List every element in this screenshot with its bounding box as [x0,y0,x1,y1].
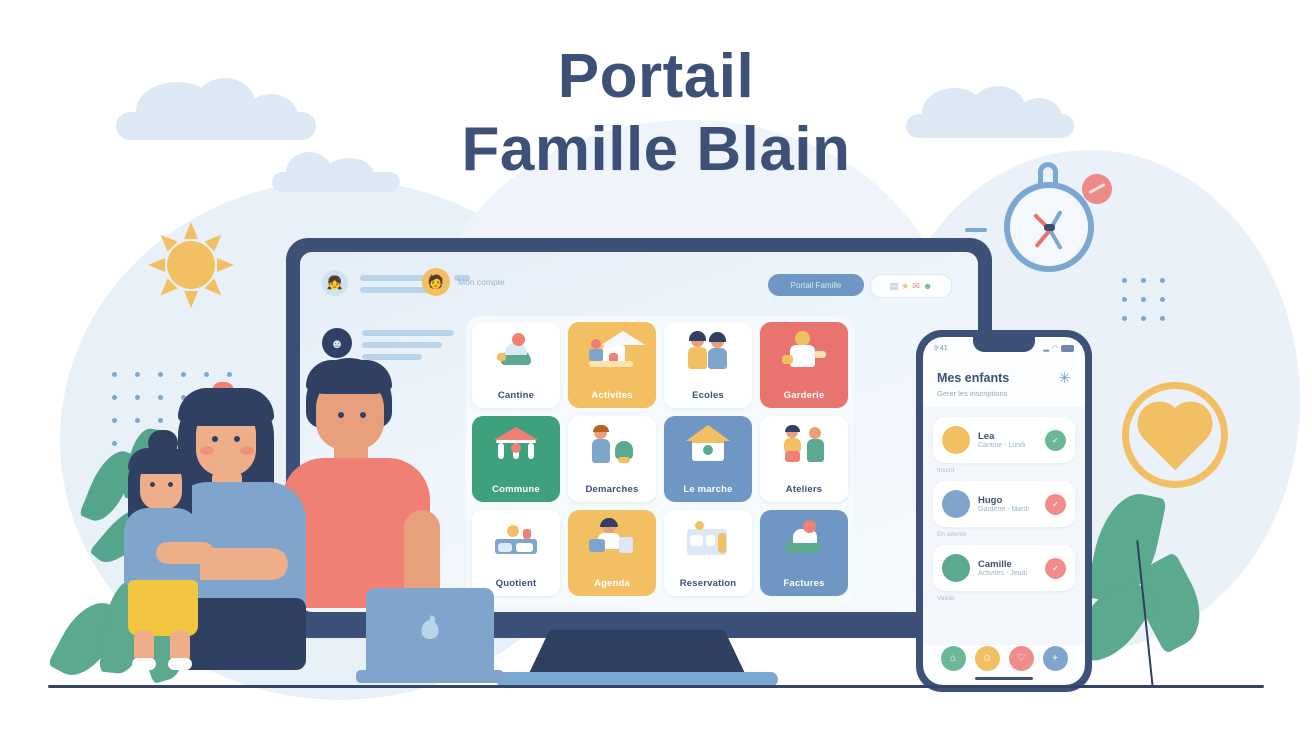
header-chip[interactable]: ▤ ★ ✉ ☻ [870,274,952,298]
primary-button[interactable]: Portail Famille [768,274,864,296]
ground-line [48,685,1264,688]
card-row: Cantine Activites [472,322,848,408]
sparkle-icon[interactable]: ✳ [1058,371,1071,386]
page-title-line2: Famille Blain [0,113,1312,186]
card-art-school-house [589,331,635,371]
laptop-lid [366,588,494,674]
illustration-canvas: Portail Famille Blain 👧 🧑 Mon compt [0,0,1312,736]
dock-button-alerts[interactable]: ♡ [1009,646,1034,671]
card-label: Ateliers [786,484,822,495]
card-art-yellow-house [685,425,731,465]
card-label: Reservation [680,578,737,589]
dock-button-calendar[interactable]: ☺ [975,646,1000,671]
card-art-two-kids [685,331,731,371]
nav-label: Mon compte [458,277,505,287]
user-icon: ☻ [923,281,932,291]
list-item-detail: Garderie - Mardi [978,506,1037,513]
status-badge[interactable]: ✓ [1045,430,1066,451]
phone-screen-title: Mes enfants [937,371,1009,385]
avatar [942,490,970,518]
status-time: 9:41 [934,345,948,352]
phone-children-list: Lea Cantine - Lundi ✓ Inscrit Hugo Garde… [923,407,1085,645]
sun-icon [148,222,234,308]
card-art-baby-care [781,331,827,371]
avatar [942,554,970,582]
service-card[interactable]: Ecoles [664,322,752,408]
dock-button-profile[interactable]: + [1043,646,1068,671]
list-item-name: Camille [978,559,1037,570]
card-row: Quotient Agenda [472,510,848,596]
status-badge[interactable]: ✓ [1045,558,1066,579]
card-label: Demarches [585,484,638,495]
avatar-nav[interactable]: 🧑 [422,268,450,296]
list-item-caption: Inscrit [937,467,1075,474]
laptop-base [356,670,504,683]
phone-screen: 9:41 ▂ ◠ Mes enfants Gerer les inscripti… [923,337,1085,685]
bell-icon: ★ [901,281,909,292]
mobile-phone: 9:41 ▂ ◠ Mes enfants Gerer les inscripti… [916,330,1092,692]
card-art-storefront [685,519,731,559]
apple-logo-icon [422,620,439,639]
page-title-line1: Portail [558,42,754,111]
list-item[interactable]: Camille Activites - Jeudi ✓ [933,545,1075,591]
list-item-caption: Valide [937,595,1075,602]
stopwatch-hub [1044,224,1055,231]
service-card[interactable]: Demarches [568,416,656,502]
phone-notch [973,337,1035,352]
wifi-icon: ◠ [1052,344,1058,352]
heart-in-circle-icon [1122,382,1228,488]
card-row: Commune Demarches [472,416,848,502]
list-item-detail: Activites - Jeudi [978,570,1037,577]
card-label: Ecoles [692,390,724,401]
card-art-parent-child [589,425,635,465]
list-item[interactable]: Lea Cantine - Lundi ✓ [933,417,1075,463]
laptop [356,588,504,686]
card-label: Garderie [784,390,825,401]
list-item-name: Hugo [978,495,1037,506]
service-card[interactable]: Agenda [568,510,656,596]
service-card[interactable]: Reservation [664,510,752,596]
card-art-woman-laptop [589,519,635,559]
dot-grid-right [1122,278,1165,321]
card-label: Activites [591,390,632,401]
page-title: Portail Famille Blain [0,40,1312,186]
signal-icon: ▂ [1044,344,1049,352]
service-card[interactable]: Factures [760,510,848,596]
service-card[interactable]: Garderie [760,322,848,408]
avatar [942,426,970,454]
status-badge[interactable]: ✓ [1045,494,1066,515]
screen-header: 👧 🧑 Mon compte Portail Famille ▤ ★ ✉ ☻ [318,266,960,310]
dock-button-home[interactable]: ⌂ [941,646,966,671]
card-label: Factures [783,578,824,589]
sun-disc [167,241,215,289]
service-card[interactable]: Ateliers [760,416,848,502]
list-item-detail: Cantine - Lundi [978,442,1037,449]
card-art-two-people [781,425,827,465]
battery-icon [1061,345,1074,352]
list-item-name: Lea [978,431,1037,442]
avatar-user[interactable]: 👧 [322,270,348,296]
card-label: Le marche [683,484,732,495]
calendar-icon: ▤ [890,281,899,292]
service-card[interactable]: Le marche [664,416,752,502]
heart-shape [1144,408,1206,470]
list-item[interactable]: Hugo Garderie - Mardi ✓ [933,481,1075,527]
card-label: Agenda [594,578,630,589]
phone-dock: ⌂ ☺ ♡ + [923,646,1085,671]
phone-screen-subtitle: Gerer les inscriptions [937,389,1007,398]
card-art-reading [781,519,827,559]
mail-icon: ✉ [912,281,920,292]
list-item-caption: En attente [937,531,1075,538]
service-card[interactable]: Activites [568,322,656,408]
phone-home-indicator [975,677,1033,680]
services-card-grid: Cantine Activites [466,316,854,606]
